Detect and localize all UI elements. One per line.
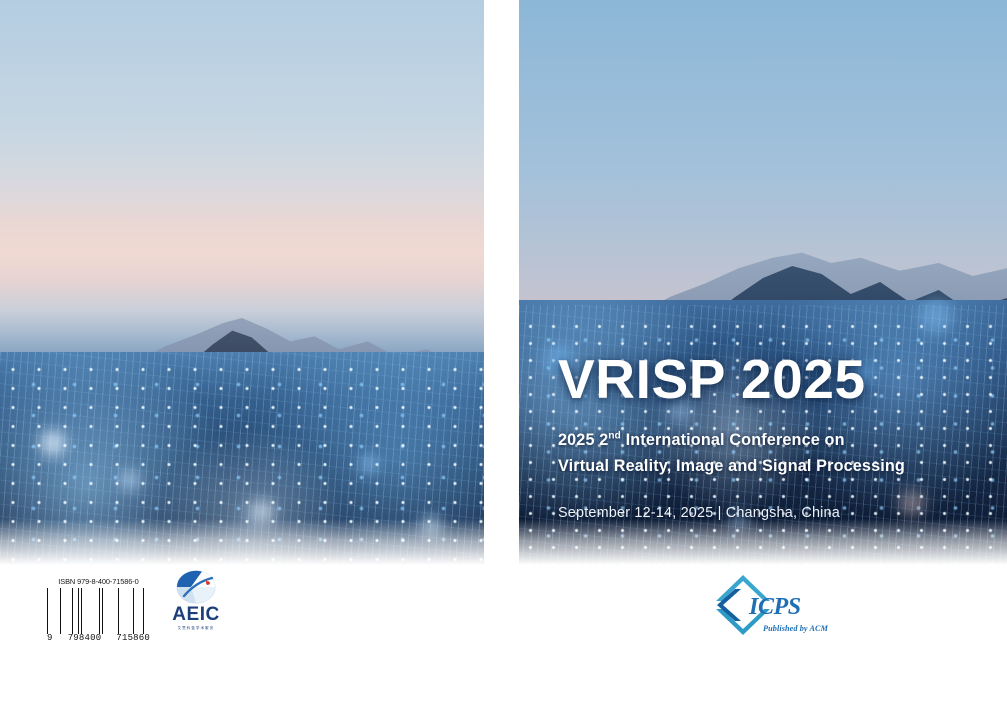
icps-wordmark: ICPS [749,594,801,621]
front-cover-bottom-fade [519,519,1007,565]
icps-logo: ICPS Published by ACM [705,569,835,643]
isbn-barcode [47,588,150,634]
conference-title: VRISP 2025 [558,352,988,407]
bottom-white-strip: ISBN 979-8-400-71586-0 9 798400 715860 [0,565,1007,710]
aeic-logo: AEIC 艾思科蓝学术服务 [163,570,229,632]
aeic-globe-swoosh-icon [172,570,220,604]
aeic-letter-e: E [187,604,200,625]
aeic-mark-svg [172,570,220,604]
isbn-barcode-digits: 9 798400 715860 [47,633,150,643]
front-cover-panel: VRISP 2025 2025 2nd International Confer… [519,0,1007,565]
cover-text-block: VRISP 2025 2025 2nd International Confer… [558,352,988,521]
aeic-chinese-subtext: 艾思科蓝学术服务 [163,625,229,630]
book-cover-page: VRISP 2025 2025 2nd International Confer… [0,0,1007,710]
subtitle-ordinal-suffix: nd [608,431,621,442]
aeic-letter-a: A [172,604,186,625]
barcode-left-digit: 9 [47,633,53,643]
aeic-wordmark: AEIC [163,605,229,624]
back-cover-bottom-fade [0,519,484,565]
barcode-group-2: 715860 [116,633,150,643]
aeic-letter-c: C [205,604,219,625]
conference-subtitle-line-2: Virtual Reality, Image and Signal Proces… [558,453,988,479]
subtitle-suffix: International Conference on [621,431,845,449]
conference-subtitle: 2025 2nd International Conference on Vir… [558,427,988,479]
conference-subtitle-line-1: 2025 2nd International Conference on [558,427,988,453]
isbn-label: ISBN 979-8-400-71586-0 [47,577,150,586]
barcode-group-1: 798400 [68,633,102,643]
back-cover-panel [0,0,484,565]
icps-tagline: Published by ACM [763,624,828,633]
subtitle-prefix: 2025 2 [558,431,608,449]
isbn-barcode-block: ISBN 979-8-400-71586-0 9 798400 715860 [47,577,150,643]
